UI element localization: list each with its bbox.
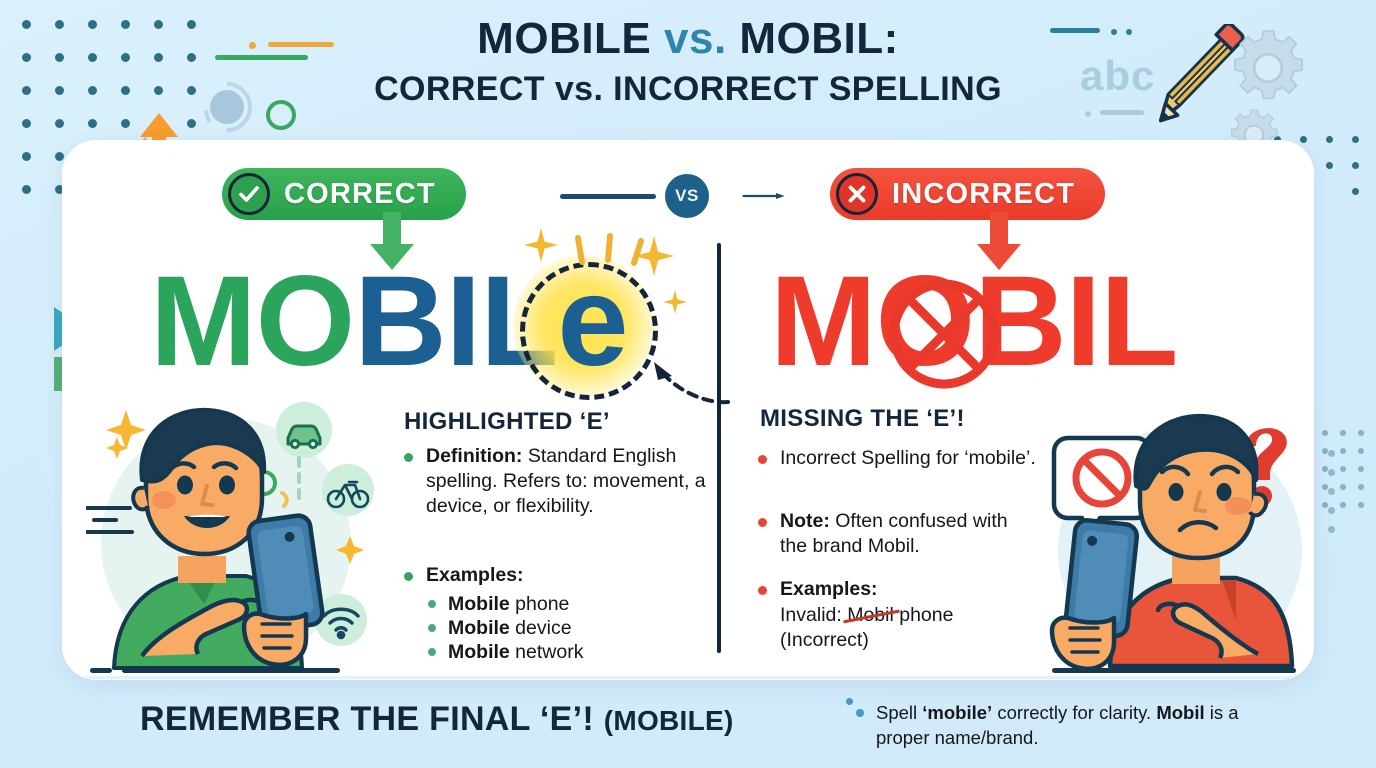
left-example-1-rest: phone	[510, 593, 570, 615]
incorrect-badge[interactable]: INCORRECT	[830, 168, 1105, 220]
footer-title-main: REMEMBER THE FINAL ‘E’!	[140, 700, 604, 738]
incorrect-badge-label: INCORRECT	[892, 178, 1075, 211]
highlight-dashed-circle	[520, 262, 658, 400]
right-examples-bullet: Examples:	[758, 577, 1036, 602]
bullet-dot-red-3	[758, 586, 767, 595]
left-example-2: Mobile device	[428, 616, 718, 640]
footer-title-paren: (MOBILE)	[604, 705, 734, 736]
right-examples-label: Examples:	[780, 578, 878, 600]
headline-line-1: MOBILE vs. MOBIL:	[0, 16, 1376, 62]
bullet-dot-red-2	[758, 518, 767, 527]
shine-rays	[548, 232, 668, 266]
left-example-2-rest: device	[510, 617, 572, 639]
right-example-invalid: Invalid: Mobil phone (Incorrect)	[758, 603, 1036, 653]
curved-pointer-arrow	[640, 350, 730, 406]
left-example-2-body: Mobile device	[448, 616, 718, 640]
footer-note-body: Spell ‘mobile’ correctly for clarity. Mo…	[876, 700, 1276, 750]
footer-note-b: ‘mobile’	[922, 702, 992, 723]
sparkle-icon-3	[663, 290, 687, 314]
correct-badge[interactable]: CORRECT	[222, 168, 466, 220]
bullet-dot-sub-3	[428, 648, 436, 656]
headline-1a: MOBILE	[477, 14, 664, 63]
footer-note-d: Mobil	[1156, 702, 1204, 723]
left-examples-label: Examples:	[426, 564, 524, 586]
cross-icon	[836, 173, 878, 215]
left-examples-bullet: Examples:	[404, 563, 709, 588]
left-example-3-body: Mobile network	[448, 640, 718, 664]
incorrect-word-part3: BIL	[974, 250, 1177, 393]
left-examples-label-wrap: Examples:	[426, 563, 709, 588]
right-note-label: Note:	[780, 510, 830, 532]
footer-bullet-dot	[846, 698, 853, 705]
left-example-3: Mobile network	[428, 640, 718, 664]
right-column-heading: MISSING THE ‘E’!	[760, 405, 965, 433]
vs-chip: VS	[665, 174, 709, 218]
confused-person-illustration	[1040, 400, 1320, 672]
accent-bar-lightblue	[1100, 110, 1144, 115]
incorrect-word-part1: M	[770, 250, 876, 393]
right-bullet-1: Incorrect Spelling for ‘mobile’.	[758, 446, 1036, 471]
footer-note-c: correctly for clarity.	[992, 702, 1156, 723]
footer-note: Spell ‘mobile’ correctly for clarity. Mo…	[856, 700, 1276, 750]
correct-word-part1: MO	[150, 250, 354, 393]
headline-1b: MOBIL:	[727, 14, 899, 63]
correct-badge-label: CORRECT	[284, 178, 436, 211]
headline-1-vs: vs.	[664, 14, 727, 63]
footer-note-a: Spell	[876, 702, 922, 723]
headline-2b: INCORRECT SPELLING	[603, 70, 1002, 108]
right-bullet-1-body: Incorrect Spelling for ‘mobile’.	[780, 446, 1036, 471]
left-example-2-bold: Mobile	[448, 617, 510, 639]
prohibited-cross-over-o	[888, 278, 1000, 390]
headline-2a: CORRECT	[374, 70, 555, 108]
left-column-heading: HIGHLIGHTED ‘E’	[404, 408, 610, 436]
accent-dot-lightblue	[1085, 111, 1091, 117]
bullet-dot-sub-1	[428, 600, 436, 608]
right-example-prefix: Invalid:	[780, 604, 847, 626]
right-example-invalid-body: Invalid: Mobil phone (Incorrect)	[780, 603, 1036, 653]
headline-line-2: CORRECT vs. INCORRECT SPELLING	[0, 70, 1376, 109]
left-definition-label: Definition:	[426, 445, 522, 467]
check-icon	[228, 173, 270, 215]
bullet-dot-blue	[856, 709, 864, 717]
happy-person-illustration	[86, 398, 406, 676]
left-example-1-bold: Mobile	[448, 593, 510, 615]
right-example-struck: Mobil	[847, 604, 894, 626]
left-example-3-bold: Mobile	[448, 641, 510, 663]
headline-2-vs: vs.	[555, 70, 603, 108]
bullet-dot-red-1	[758, 455, 767, 464]
right-note-bullet: Note: Often confused with the brand Mobi…	[758, 509, 1036, 559]
headline-block: MOBILE vs. MOBIL: CORRECT vs. INCORRECT …	[0, 16, 1376, 109]
left-example-1-body: Mobile phone	[448, 592, 718, 616]
footer-title: REMEMBER THE FINAL ‘E’! (MOBILE)	[140, 700, 734, 739]
left-example-1: Mobile phone	[428, 592, 718, 616]
car-icon	[288, 426, 320, 448]
right-note-body: Note: Often confused with the brand Mobi…	[780, 509, 1036, 559]
card-baseline	[84, 676, 1292, 679]
vs-line-left	[560, 194, 656, 199]
bullet-dot-sub-2	[428, 624, 436, 632]
right-examples-label-wrap: Examples:	[780, 577, 1036, 602]
left-definition-body: Definition: Standard English spelling. R…	[426, 444, 709, 519]
left-definition-bullet: Definition: Standard English spelling. R…	[404, 444, 709, 519]
vs-arrow-right	[716, 193, 812, 199]
infographic-canvas: abc	[0, 0, 1376, 768]
left-example-3-rest: network	[510, 641, 584, 663]
